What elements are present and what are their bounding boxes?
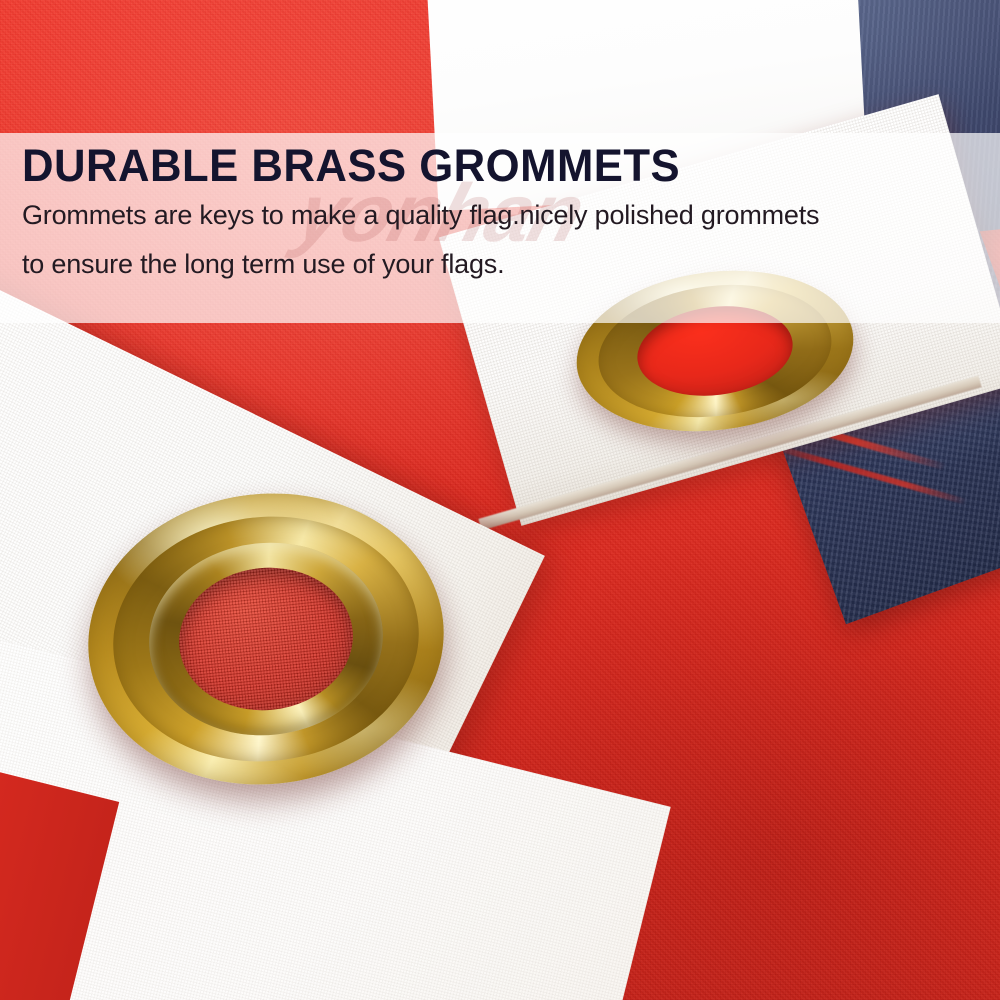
page-title: DURABLE BRASS GROMMETS bbox=[22, 141, 971, 191]
product-feature-image: yonhan DURABLE BRASS GROMMETS Grommets a… bbox=[0, 0, 1000, 1000]
banner-text-block: DURABLE BRASS GROMMETS Grommets are keys… bbox=[22, 133, 1000, 323]
grommet-main-hole bbox=[172, 559, 360, 719]
description-line-1: Grommets are keys to make a quality flag… bbox=[22, 202, 1000, 230]
feature-text-banner: yonhan DURABLE BRASS GROMMETS Grommets a… bbox=[0, 133, 1000, 323]
description-line-2: to ensure the long term use of your flag… bbox=[22, 251, 1000, 279]
